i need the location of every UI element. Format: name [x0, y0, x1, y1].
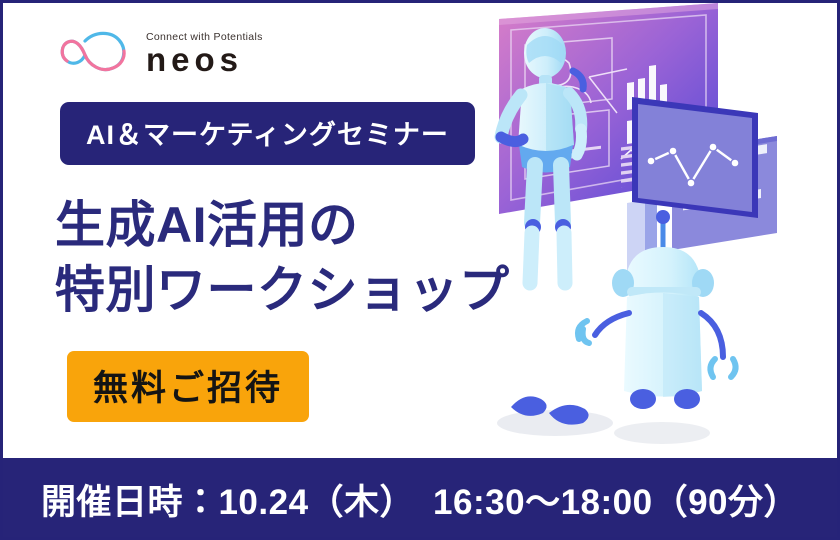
- event-datetime-text: 開催日時：10.24（木） 16:30〜18:00（90分）: [41, 474, 799, 525]
- infinity-loop-icon: [55, 29, 137, 75]
- page-title: 生成AI活用の 特別ワークショップ: [55, 193, 510, 323]
- free-invitation-badge: 無料ご招待: [67, 351, 309, 422]
- headline-line-1: 生成AI活用の: [55, 197, 359, 253]
- headline-line-2: 特別ワークショップ: [55, 258, 510, 323]
- shadow-bot: [614, 422, 710, 444]
- event-datetime-bar: 開催日時：10.24（木） 16:30〜18:00（90分）: [0, 458, 840, 540]
- neos-logo[interactable]: Connect with Potentials neos: [55, 29, 263, 75]
- hero-illustration: [477, 3, 837, 463]
- line-chart-panel: [632, 97, 758, 218]
- seminar-banner: Connect with Potentials neos AI＆マーケティングセ…: [0, 0, 840, 540]
- seminar-category-badge: AI＆マーケティングセミナー: [60, 102, 475, 165]
- logo-wordmark: neos: [146, 44, 243, 75]
